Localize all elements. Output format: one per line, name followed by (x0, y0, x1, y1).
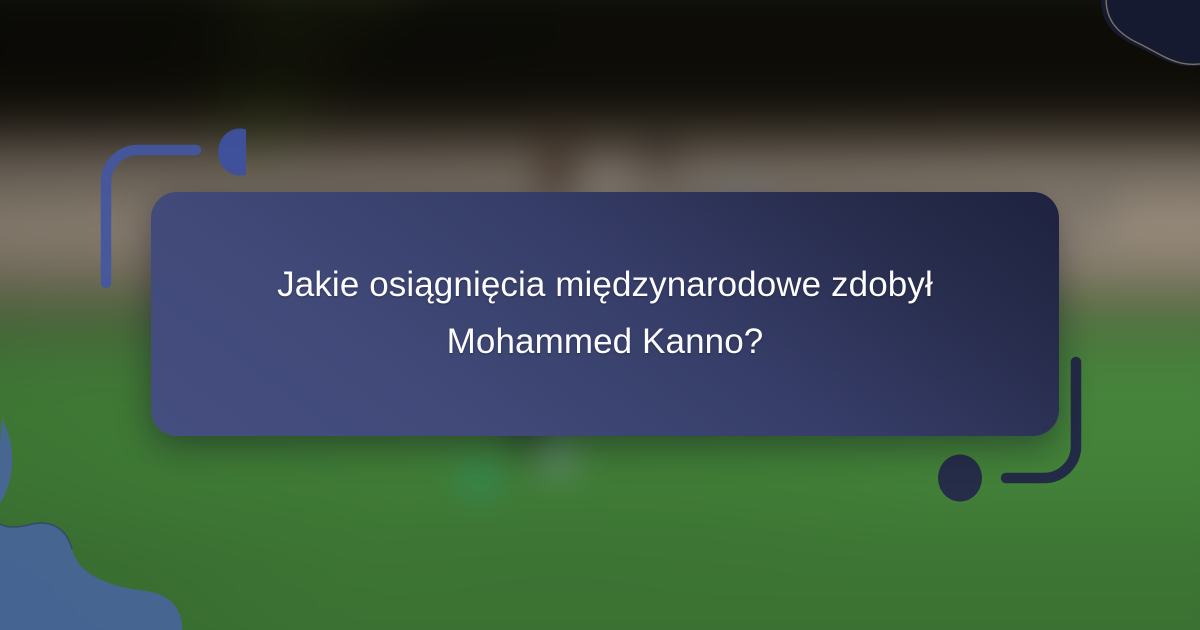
organic-blob-top-right (1060, 0, 1200, 124)
organic-blob-bottom-left (0, 419, 234, 630)
accent-dot-top-left (218, 129, 246, 176)
question-card: Jakie osiągnięcia międzynarodowe zdobył … (151, 192, 1059, 436)
accent-dot-bottom-right (938, 455, 982, 502)
question-card-banner: Jakie osiągnięcia międzynarodowe zdobył … (0, 0, 1200, 630)
question-text: Jakie osiągnięcia międzynarodowe zdobył … (235, 257, 975, 370)
